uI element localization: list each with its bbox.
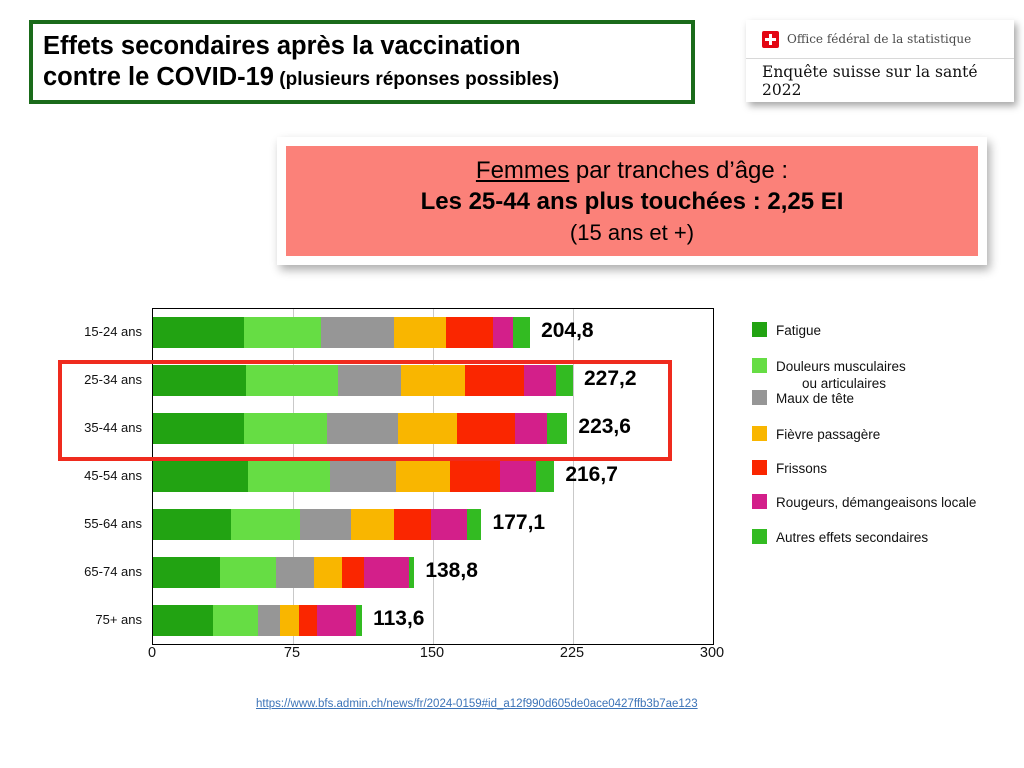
bar-value-label: 216,7 [565,463,618,487]
legend-label: Maux de tête [776,390,854,407]
legend-swatch-icon [752,494,767,509]
bfs-office-label: Office fédéral de la statistique [787,32,971,46]
legend-label: Douleurs musculairesou articulaires [776,358,906,392]
legend-label: Frissons [776,460,827,477]
highlight-banner-inner: Femmes par tranches d’âge : Les 25-44 an… [286,146,978,256]
y-axis-label: 75+ ans [22,612,142,627]
bar-segment [409,557,415,588]
x-axis-tick-label: 75 [284,645,300,661]
bar-segment [364,557,409,588]
bar-segment [467,509,482,540]
legend-item[interactable]: Rougeurs, démangeaisons locale [752,494,976,511]
bar-segment [330,461,395,492]
legend-label: Fatigue [776,322,821,339]
bar-segment [524,365,556,396]
bar-segment [401,365,464,396]
bar-segment [450,461,500,492]
bar-segment [220,557,276,588]
bar-segment [342,557,364,588]
stacked-bar-chart [152,308,714,645]
x-axis-tick-label: 150 [420,645,444,661]
bar-segment [280,605,299,636]
bar-segment [153,413,244,444]
bar-segment [356,605,362,636]
bar-value-label: 223,6 [578,415,631,439]
bar-segment [153,605,213,636]
chart-bar-row [153,461,713,492]
legend-item[interactable]: Douleurs musculairesou articulaires [752,358,906,392]
legend-label: Fièvre passagère [776,426,880,443]
bar-segment [446,317,493,348]
x-axis-tick-label: 225 [560,645,584,661]
y-axis-label: 35-44 ans [22,420,142,435]
chart-bars [153,309,713,644]
banner-line-3: (15 ans et +) [570,217,694,248]
legend-swatch-icon [752,529,767,544]
legend-item[interactable]: Fatigue [752,322,821,339]
bfs-logo-card: Office fédéral de la statistique Enquête… [746,20,1014,102]
legend-label: Rougeurs, démangeaisons locale [776,494,976,511]
legend-swatch-icon [752,460,767,475]
swiss-cross-icon [762,31,779,48]
legend-swatch-icon [752,426,767,441]
bar-value-label: 204,8 [541,319,594,343]
legend-item[interactable]: Fièvre passagère [752,426,880,443]
bar-segment [153,461,248,492]
stacked-bar [153,365,573,396]
bar-segment [153,509,231,540]
bar-segment [231,509,300,540]
legend-item[interactable]: Autres effets secondaires [752,529,928,546]
bfs-office-row: Office fédéral de la statistique [746,20,1014,59]
y-axis-label: 15-24 ans [22,324,142,339]
bar-segment [394,317,446,348]
bar-segment [299,605,318,636]
bfs-survey-label: Enquête suisse sur la santé 2022 [762,63,1014,99]
banner-line-1: Femmes par tranches d’âge : [476,155,788,186]
banner-line-1-underlined: Femmes [476,157,569,184]
bar-segment [556,365,573,396]
stacked-bar [153,317,530,348]
bar-segment [547,413,568,444]
bar-segment [276,557,313,588]
bar-segment [248,461,330,492]
banner-line-1-rest: par tranches d’âge : [569,157,788,184]
chart-bar-row [153,605,713,636]
bar-segment [431,509,466,540]
bfs-survey-row: Enquête suisse sur la santé 2022 [746,59,1014,102]
bar-segment [513,317,530,348]
bar-segment [465,365,525,396]
stacked-bar [153,509,481,540]
banner-line-2: Les 25-44 ans plus touchées : 2,25 EI [421,186,844,217]
title-line-2-main: contre le COVID-19 [43,63,274,91]
bar-segment [244,413,326,444]
bar-segment [153,365,246,396]
stacked-bar [153,413,567,444]
bar-segment [457,413,515,444]
bar-segment [153,557,220,588]
bar-segment [314,557,342,588]
bar-segment [153,317,244,348]
bar-segment [500,461,535,492]
y-axis-label: 65-74 ans [22,564,142,579]
bar-segment [317,605,356,636]
y-axis-label: 45-54 ans [22,468,142,483]
bar-segment [246,365,337,396]
title-line-2-sub: (plusieurs réponses possibles) [274,69,559,90]
legend-swatch-icon [752,358,767,373]
bar-segment [394,509,431,540]
bar-value-label: 113,6 [373,607,424,631]
bar-segment [244,317,321,348]
slide-title-box: Effets secondaires après la vaccination … [29,20,695,104]
bar-segment [396,461,450,492]
bar-segment [351,509,394,540]
legend-label: Autres effets secondaires [776,529,928,546]
chart-bar-row [153,317,713,348]
bar-segment [338,365,401,396]
stacked-bar [153,557,414,588]
stacked-bar [153,461,554,492]
highlight-banner: Femmes par tranches d’âge : Les 25-44 an… [277,137,987,265]
bar-segment [213,605,258,636]
bar-value-label: 138,8 [425,559,478,583]
x-axis-tick-label: 300 [700,645,724,661]
chart-bar-row [153,509,713,540]
source-link[interactable]: https://www.bfs.admin.ch/news/fr/2024-01… [256,698,698,710]
title-line-1: Effets secondaires après la vaccination [43,31,681,62]
bar-segment [321,317,394,348]
legend-swatch-icon [752,322,767,337]
title-line-2: contre le COVID-19 (plusieurs réponses p… [43,62,681,95]
bar-segment [258,605,280,636]
x-axis-tick-label: 0 [148,645,156,661]
bar-segment [327,413,398,444]
bar-segment [493,317,514,348]
bar-value-label: 177,1 [493,511,546,535]
bar-segment [536,461,555,492]
y-axis-label: 55-64 ans [22,516,142,531]
legend-swatch-icon [752,390,767,405]
y-axis-label: 25-34 ans [22,372,142,387]
legend-item[interactable]: Frissons [752,460,827,477]
bar-segment [398,413,458,444]
bar-segment [515,413,547,444]
bar-value-label: 227,2 [584,367,637,391]
stacked-bar [153,605,362,636]
bar-segment [300,509,350,540]
legend-item[interactable]: Maux de tête [752,390,854,407]
